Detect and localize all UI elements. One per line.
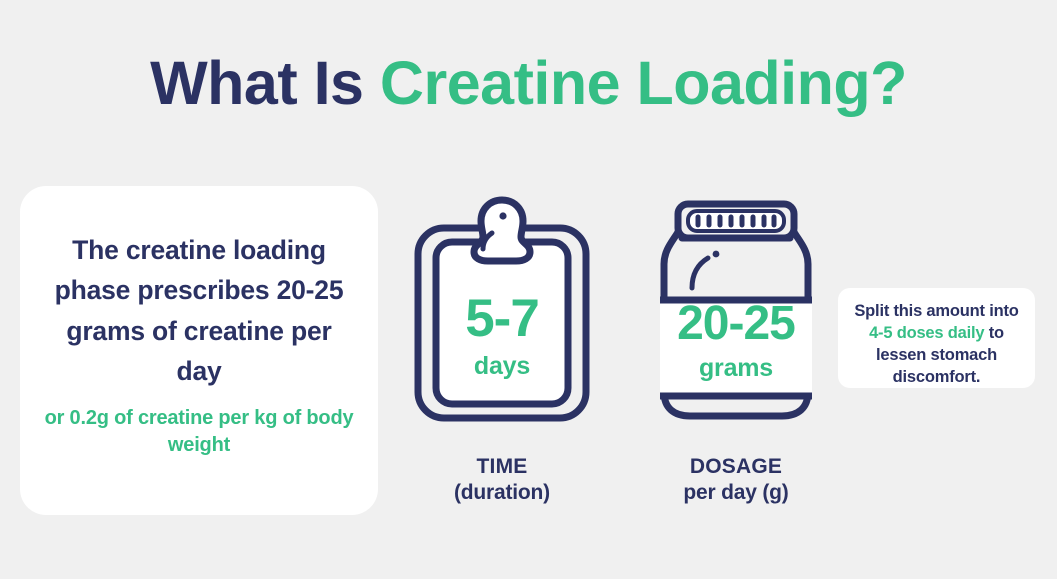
info-card: The creatine loading phase prescribes 20… bbox=[20, 186, 378, 515]
time-caption-line2: (duration) bbox=[404, 480, 600, 506]
info-card-subline: or 0.2g of creatine per kg of body weigh… bbox=[42, 405, 356, 459]
title-part-green: Creatine Loading? bbox=[380, 49, 907, 117]
time-block: 5-7 days TIME (duration) bbox=[404, 196, 600, 507]
dosage-caption-line2: per day (g) bbox=[636, 480, 836, 506]
time-caption: TIME (duration) bbox=[404, 454, 600, 507]
page-title: What Is Creatine Loading? bbox=[0, 50, 1057, 117]
dosage-block: 20-25 grams DOSAGE per day (g) bbox=[636, 196, 836, 507]
title-part-navy: What Is bbox=[150, 49, 380, 117]
dosage-caption-line1: DOSAGE bbox=[636, 454, 836, 480]
supplement-jar-icon bbox=[636, 196, 836, 430]
note-text-before: Split this amount into bbox=[854, 302, 1018, 320]
info-card-headline: The creatine loading phase prescribes 20… bbox=[42, 230, 356, 391]
time-caption-line1: TIME bbox=[404, 454, 600, 480]
note-box: Split this amount into 4-5 doses daily t… bbox=[838, 288, 1035, 388]
dosage-caption: DOSAGE per day (g) bbox=[636, 454, 836, 507]
clipboard-icon bbox=[404, 196, 600, 430]
infographic-canvas: What Is Creatine Loading? The creatine l… bbox=[0, 0, 1057, 579]
note-highlight: 4-5 doses daily bbox=[869, 324, 984, 342]
